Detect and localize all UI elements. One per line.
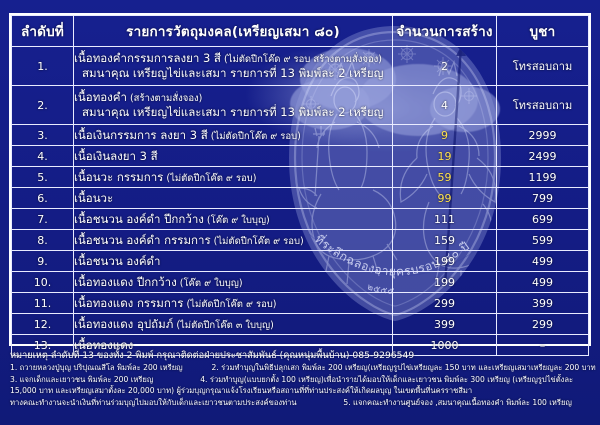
column-header-price: บูชา xyxy=(497,16,589,47)
cell-price: โทรสอบถาม xyxy=(497,86,589,125)
cell-description: เนื้อทองคำ (สร้างตามสั่งจอง)สมนาคุณ เหรี… xyxy=(74,86,393,125)
table-row: 8.เนื้อชนวน องค์ดำ กรรมการ (ไม่ตัดปีกโค๊… xyxy=(12,230,589,251)
description-main: เนื้อนวะ กรรมการ (ไม่ตัดปีกโค๊ต ๙ รอบ) xyxy=(74,170,392,185)
description-main: เนื้อนวะ xyxy=(74,191,392,205)
column-header-description: รายการวัตถุมงคล(เหรียญเสมา ๘๐) xyxy=(74,16,393,47)
footnote-line-2: 3. แจกเด็กและเยาวชน พิมพ์ละ 200 เหรียญ 4… xyxy=(10,375,592,386)
price-table-container: ลำดับที่ รายการวัตถุมงคล(เหรียญเสมา ๘๐) … xyxy=(9,13,591,346)
cell-quantity: 59 xyxy=(393,167,497,188)
description-note: (โค๊ต ๙ ใบบุญ) xyxy=(177,278,243,289)
description-note: (ไม่ตัดปีกโค๊ต ๙ รอบ) xyxy=(208,131,301,142)
footnote-item-2: 2. ร่วมทำบุญในพิธีปลุกเสก พิมพ์ละ 200 เห… xyxy=(212,363,596,372)
cell-description: เนื้อทองแดง กรรมการ (ไม่ตัดปีกโค๊ต ๙ รอบ… xyxy=(74,293,393,314)
footnote-line-4: ทางคณะทำงานจะนำเงินที่ท่านร่วมบุญไปมอบให… xyxy=(10,398,592,409)
cell-quantity: 9 xyxy=(393,125,497,146)
table-row: 3.เนื้อเงินกรรมการ ลงยา 3 สี (ไม่ตัดปีกโ… xyxy=(12,125,589,146)
table-header: ลำดับที่ รายการวัตถุมงคล(เหรียญเสมา ๘๐) … xyxy=(12,16,589,47)
table-row: 10.เนื้อทองแดง ปีกกว้าง (โค๊ต ๙ ใบบุญ)19… xyxy=(12,272,589,293)
description-main: เนื้อทองคำ (สร้างตามสั่งจอง) xyxy=(74,90,392,105)
cell-quantity: 4 xyxy=(393,86,497,125)
cell-row-number: 9. xyxy=(12,251,74,272)
cell-row-number: 11. xyxy=(12,293,74,314)
table-row: 5.เนื้อนวะ กรรมการ (ไม่ตัดปีกโค๊ต ๙ รอบ)… xyxy=(12,167,589,188)
footnote-item-3: 3. แจกเด็กและเยาวชน พิมพ์ละ 200 เหรียญ xyxy=(10,375,153,384)
table-row: 1.เนื้อทองคำกรรมการลงยา 3 สี (ไม่ตัดปีกโ… xyxy=(12,47,589,86)
cell-description: เนื้อทองแดง อุปถัมภ์ (ไม่ตัดปีกโค๊ต ๓ ใบ… xyxy=(74,314,393,335)
cell-description: เนื้อเงินกรรมการ ลงยา 3 สี (ไม่ตัดปีกโค๊… xyxy=(74,125,393,146)
table-row: 4.เนื้อเงินลงยา 3 สี192499 xyxy=(12,146,589,167)
footnote-line-4-left: ทางคณะทำงานจะนำเงินที่ท่านร่วมบุญไปมอบให… xyxy=(10,398,297,407)
description-main: เนื้อทองแดง อุปถัมภ์ (ไม่ตัดปีกโค๊ต ๓ ใบ… xyxy=(74,317,392,332)
footnote-item-5: 5. แจกคณะทำงานศูนย์จอง ,สมนาคุณเนื้อทองค… xyxy=(343,398,572,407)
footnotes-section: หมายเหตุ ลำดับที่ 13 ของทั้ง 2 พิมพ์ กรุ… xyxy=(10,350,592,408)
cell-description: เนื้อนวะ xyxy=(74,188,393,209)
description-main: เนื้อเงินลงยา 3 สี xyxy=(74,149,392,163)
cell-price: 2499 xyxy=(497,146,589,167)
description-note: (ไม่ตัดปีกโค๊ต ๙ รอบ) xyxy=(183,299,276,310)
cell-quantity: 2 xyxy=(393,47,497,86)
table-row: 11.เนื้อทองแดง กรรมการ (ไม่ตัดปีกโค๊ต ๙ … xyxy=(12,293,589,314)
footnote-line-1: 1. ถวายหลวงปู่บุญ ปริปุณณสีโล พิมพ์ละ 20… xyxy=(10,363,592,374)
cell-price: 699 xyxy=(497,209,589,230)
cell-row-number: 4. xyxy=(12,146,74,167)
description-note: (สร้างตามสั่งจอง) xyxy=(127,93,202,104)
table-header-row: ลำดับที่ รายการวัตถุมงคล(เหรียญเสมา ๘๐) … xyxy=(12,16,589,47)
table-row: 6.เนื้อนวะ99799 xyxy=(12,188,589,209)
cell-row-number: 2. xyxy=(12,86,74,125)
cell-quantity: 19 xyxy=(393,146,497,167)
cell-row-number: 7. xyxy=(12,209,74,230)
cell-row-number: 10. xyxy=(12,272,74,293)
cell-quantity: 399 xyxy=(393,314,497,335)
footnote-line-3: 15,000 บาท และเหรียญเสมาตั้งละ 20,000 บา… xyxy=(10,386,592,397)
cell-description: เนื้อชนวน องค์ดำ กรรมการ (ไม่ตัดปีกโค๊ต … xyxy=(74,230,393,251)
cell-quantity: 299 xyxy=(393,293,497,314)
column-header-quantity: จำนวนการสร้าง xyxy=(393,16,497,47)
cell-description: เนื้อทองคำกรรมการลงยา 3 สี (ไม่ตัดปีกโค๊… xyxy=(74,47,393,86)
cell-row-number: 5. xyxy=(12,167,74,188)
cell-price: 599 xyxy=(497,230,589,251)
footnote-item-4: 4. ร่วมทำบุญ(แบบยกตั้ง 100 เหรียญ)เพื่อน… xyxy=(200,375,573,384)
cell-row-number: 3. xyxy=(12,125,74,146)
table-row: 9.เนื้อชนวน องค์ดำ199499 xyxy=(12,251,589,272)
column-header-no: ลำดับที่ xyxy=(12,16,74,47)
cell-quantity: 199 xyxy=(393,251,497,272)
cell-row-number: 12. xyxy=(12,314,74,335)
cell-description: เนื้อนวะ กรรมการ (ไม่ตัดปีกโค๊ต ๙ รอบ) xyxy=(74,167,393,188)
description-sub: สมนาคุณ เหรียญไข่และเสมา รายการที่ 13 พิ… xyxy=(74,66,392,81)
price-list-poster: ที่ระลึกฉลองอายุครบรอบ ๘๐ ปี ๒๕๕๕ ลำดับท… xyxy=(0,0,600,425)
cell-price: 499 xyxy=(497,272,589,293)
cell-price: 299 xyxy=(497,314,589,335)
description-note: (โค๊ต ๙ ใบบุญ) xyxy=(204,215,270,226)
table-row: 7.เนื้อชนวน องค์ดำ ปีกกว้าง (โค๊ต ๙ ใบบุ… xyxy=(12,209,589,230)
description-note: (ไม่ตัดปีกโค๊ด ๙ รอบ สร้างตามสั่งจอง) xyxy=(221,54,382,65)
cell-description: เนื้อเงินลงยา 3 สี xyxy=(74,146,393,167)
description-main: เนื้อชนวน องค์ดำ กรรมการ (ไม่ตัดปีกโค๊ต … xyxy=(74,233,392,248)
cell-description: เนื้อชนวน องค์ดำ xyxy=(74,251,393,272)
cell-row-number: 6. xyxy=(12,188,74,209)
cell-price: 2999 xyxy=(497,125,589,146)
cell-quantity: 159 xyxy=(393,230,497,251)
footnote-item-1: 1. ถวายหลวงปู่บุญ ปริปุณณสีโล พิมพ์ละ 20… xyxy=(10,363,183,372)
cell-quantity: 99 xyxy=(393,188,497,209)
price-table: ลำดับที่ รายการวัตถุมงคล(เหรียญเสมา ๘๐) … xyxy=(11,15,589,356)
description-main: เนื้อเงินกรรมการ ลงยา 3 สี (ไม่ตัดปีกโค๊… xyxy=(74,128,392,143)
footnote-heading: หมายเหตุ ลำดับที่ 13 ของทั้ง 2 พิมพ์ กรุ… xyxy=(10,350,592,362)
cell-price: 499 xyxy=(497,251,589,272)
description-main: เนื้อทองคำกรรมการลงยา 3 สี (ไม่ตัดปีกโค๊… xyxy=(74,51,392,66)
cell-description: เนื้อชนวน องค์ดำ ปีกกว้าง (โค๊ต ๙ ใบบุญ) xyxy=(74,209,393,230)
description-main: เนื้อชนวน องค์ดำ ปีกกว้าง (โค๊ต ๙ ใบบุญ) xyxy=(74,212,392,227)
description-note: (ไม่ตัดปีกโค๊ต ๙ รอบ) xyxy=(211,236,304,247)
table-row: 12.เนื้อทองแดง อุปถัมภ์ (ไม่ตัดปีกโค๊ต ๓… xyxy=(12,314,589,335)
description-note: (ไม่ตัดปีกโค๊ต ๙ รอบ) xyxy=(163,173,256,184)
description-main: เนื้อทองแดง กรรมการ (ไม่ตัดปีกโค๊ต ๙ รอบ… xyxy=(74,296,392,311)
description-sub: สมนาคุณ เหรียญไข่และเสมา รายการที่ 13 พิ… xyxy=(74,105,392,120)
table-body: 1.เนื้อทองคำกรรมการลงยา 3 สี (ไม่ตัดปีกโ… xyxy=(12,47,589,356)
cell-row-number: 1. xyxy=(12,47,74,86)
description-main: เนื้อทองแดง ปีกกว้าง (โค๊ต ๙ ใบบุญ) xyxy=(74,275,392,290)
cell-price: 799 xyxy=(497,188,589,209)
cell-price: 1199 xyxy=(497,167,589,188)
description-main: เนื้อชนวน องค์ดำ xyxy=(74,254,392,268)
cell-quantity: 199 xyxy=(393,272,497,293)
cell-price: 399 xyxy=(497,293,589,314)
cell-row-number: 8. xyxy=(12,230,74,251)
description-note: (ไม่ตัดปีกโค๊ต ๓ ใบบุญ) xyxy=(173,320,274,331)
table-row: 2.เนื้อทองคำ (สร้างตามสั่งจอง)สมนาคุณ เห… xyxy=(12,86,589,125)
cell-description: เนื้อทองแดง ปีกกว้าง (โค๊ต ๙ ใบบุญ) xyxy=(74,272,393,293)
cell-price: โทรสอบถาม xyxy=(497,47,589,86)
cell-quantity: 111 xyxy=(393,209,497,230)
